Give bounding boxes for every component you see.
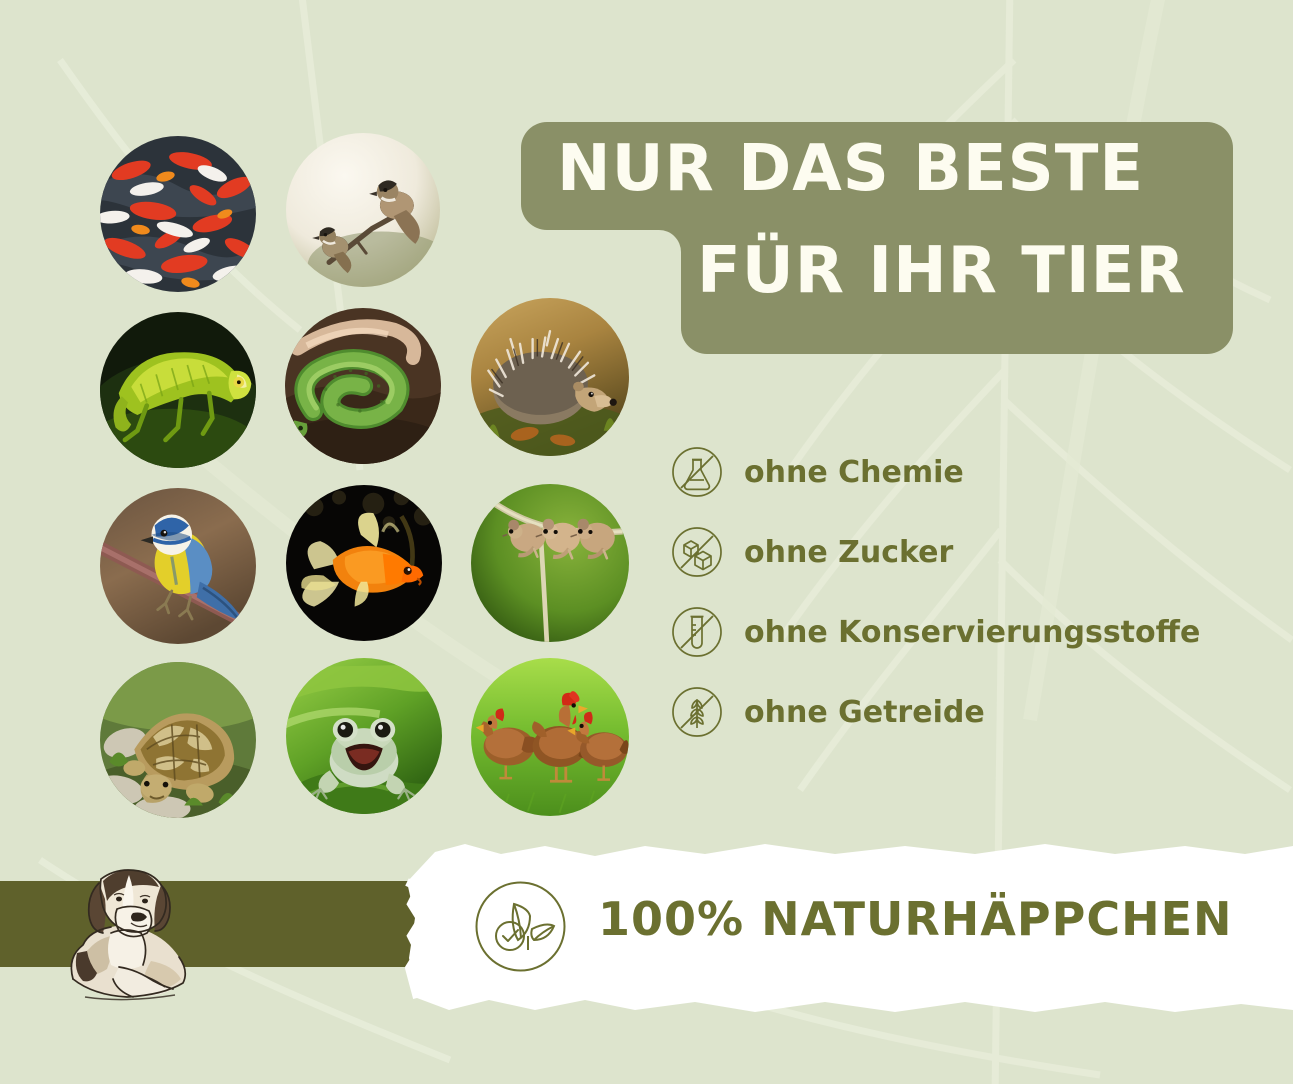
headline-bubble: NUR DAS BESTE FÜR IHR TIER xyxy=(521,122,1233,354)
natur-banner-label: 100% NATURHÄPPCHEN xyxy=(598,892,1233,946)
photo-goldfish xyxy=(286,485,442,641)
feature-list: ohne Chemie ohne Zucker xyxy=(668,432,1200,752)
photo-chameleon xyxy=(100,312,256,468)
feature-label-no-grain: ohne Getreide xyxy=(744,695,985,730)
leaf-check-icon xyxy=(468,874,573,979)
photo-blue-tit xyxy=(100,488,256,644)
photo-frog xyxy=(286,658,442,814)
no-sugar-icon xyxy=(668,523,726,581)
photo-chickens xyxy=(471,658,629,816)
feature-row-no-preservatives: ohne Konservierungsstoffe xyxy=(668,592,1200,672)
feature-row-no-sugar: ohne Zucker xyxy=(668,512,1200,592)
feature-label-no-chemistry: ohne Chemie xyxy=(744,455,964,490)
saint-bernard-dog-illustration xyxy=(55,861,245,1011)
no-preservatives-icon xyxy=(668,603,726,661)
headline-line-2: FÜR IHR TIER xyxy=(697,234,1186,308)
feature-row-no-chemistry: ohne Chemie xyxy=(668,432,1200,512)
poster-canvas: NUR DAS BESTE FÜR IHR TIER ohne Chemie xyxy=(0,0,1293,1084)
photo-snake xyxy=(285,308,441,464)
photo-tortoise xyxy=(100,662,256,818)
photo-birds xyxy=(286,133,440,287)
photo-koi-fish xyxy=(100,136,256,292)
feature-label-no-preservatives: ohne Konservierungsstoffe xyxy=(744,615,1200,650)
photo-mice xyxy=(471,484,629,642)
feature-label-no-sugar: ohne Zucker xyxy=(744,535,953,570)
headline-line-1: NUR DAS BESTE xyxy=(557,132,1144,206)
no-chemistry-icon xyxy=(668,443,726,501)
feature-row-no-grain: ohne Getreide xyxy=(668,672,1200,752)
natur-banner: 100% NATURHÄPPCHEN xyxy=(405,838,1293,1016)
no-grain-icon xyxy=(668,683,726,741)
